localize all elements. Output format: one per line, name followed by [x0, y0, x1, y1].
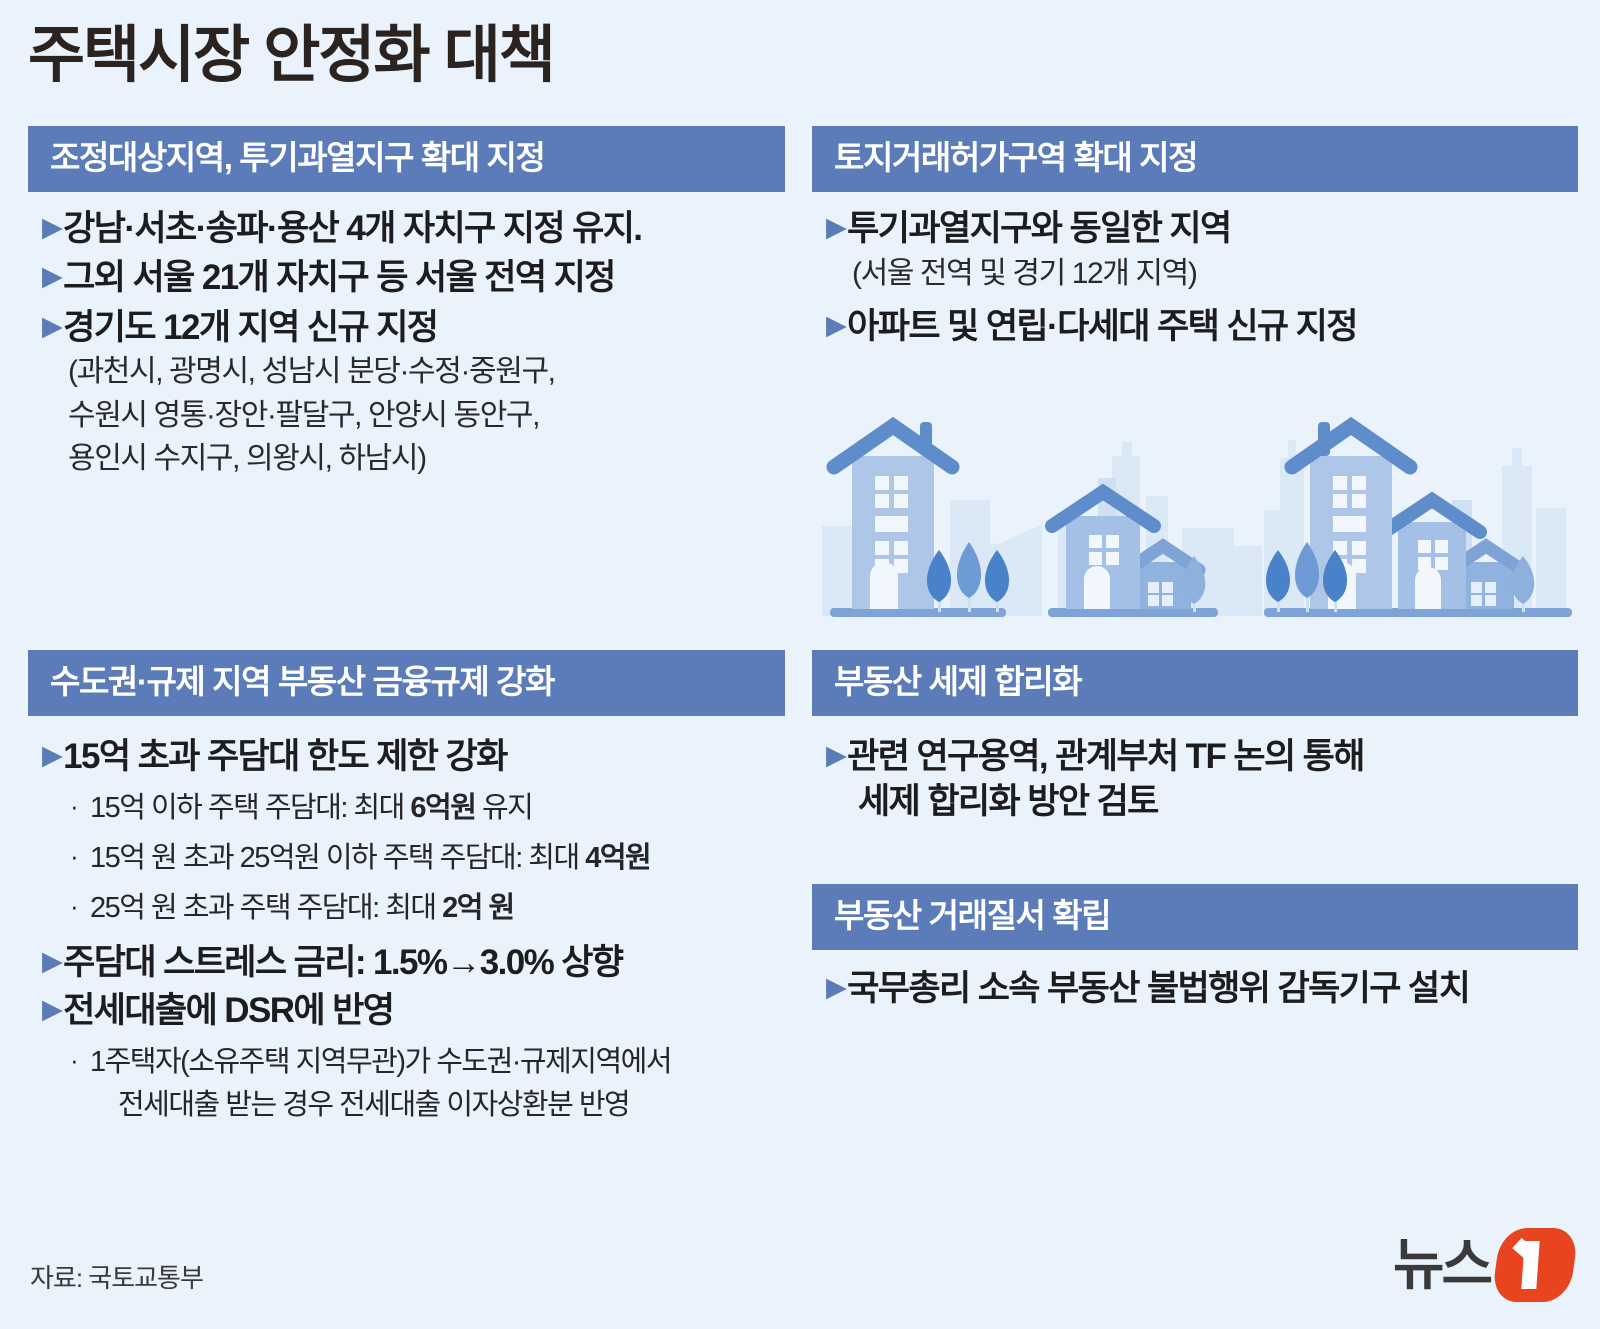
note-line: (서울 전역 및 경기 12개 지역) [826, 253, 1578, 296]
section-land-permit: 토지거래허가구역 확대 지정 ▶ 투기과열지구와 동일한 지역 (서울 전역 및… [812, 126, 1578, 354]
bullet-item: ▶ 경기도 12개 지역 신규 지정 [42, 305, 785, 351]
bullet-continuation: 세제 합리화 방안 검토 [826, 779, 1578, 825]
section-header-tax: 부동산 세제 합리화 [812, 650, 1578, 716]
bullet-text: 관련 연구용역, 관계부처 TF 논의 통해 [847, 734, 1578, 780]
sub-bullet-text: 15억 원 초과 25억원 이하 주택 주담대: 최대 4억원 [90, 839, 650, 878]
bullet-text: 투기과열지구와 동일한 지역 [847, 206, 1578, 252]
sub-bullet-item: · 1주택자(소유주택 지역무관)가 수도권·규제지역에서 [42, 1043, 785, 1082]
bullet-text: 세제 합리화 방안 검토 [858, 779, 1578, 825]
section-header-adjust-zone: 조정대상지역, 투기과열지구 확대 지정 [28, 126, 785, 192]
sub-bullet-text: 1주택자(소유주택 지역무관)가 수도권·규제지역에서 [90, 1043, 671, 1082]
housing-skyline-illustration [812, 404, 1578, 624]
bullet-item: ▶ 국무총리 소속 부동산 불법행위 감독기구 설치 [826, 966, 1578, 1012]
sub-bullet-text: 25억 원 초과 주택 주담대: 최대 2억 원 [90, 889, 514, 928]
section-tax: 부동산 세제 합리화 ▶ 관련 연구용역, 관계부처 TF 논의 통해 세제 합… [812, 650, 1578, 825]
dot-bullet-icon: · [70, 839, 90, 875]
infographic-root: 주택시장 안정화 대책 조정대상지역, 투기과열지구 확대 지정 ▶ 강남·서초… [0, 0, 1600, 1329]
triangle-bullet-icon: ▶ [42, 255, 61, 299]
bullet-list-adjust-zone: ▶ 강남·서초·송파·용산 4개 자치구 지정 유지. ▶ 그외 서울 21개 … [28, 192, 785, 481]
dot-bullet-icon: · [70, 889, 90, 925]
bullet-list-finance: ▶ 15억 초과 주담대 한도 제한 강화 · 15억 이하 주택 주담대: 최… [28, 716, 785, 1125]
section-order: 부동산 거래질서 확립 ▶ 국무총리 소속 부동산 불법행위 감독기구 설치 [812, 884, 1578, 1011]
source-label: 자료: 국토교통부 [30, 1258, 203, 1295]
bullet-text: 15억 초과 주담대 한도 제한 강화 [63, 734, 785, 780]
sub-bullet-item: · 25억 원 초과 주택 주담대: 최대 2억 원 [42, 889, 785, 928]
bullet-list-tax: ▶ 관련 연구용역, 관계부처 TF 논의 통해 세제 합리화 방안 검토 [812, 716, 1578, 825]
sub-bullet-item: · 15억 원 초과 25억원 이하 주택 주담대: 최대 4억원 [42, 839, 785, 878]
triangle-bullet-icon: ▶ [826, 206, 845, 250]
logo-numeral-icon [1491, 1228, 1579, 1302]
sub-bullet-text: 15억 이하 주택 주담대: 최대 6억원 유지 [90, 789, 532, 828]
bullet-list-land-permit: ▶ 투기과열지구와 동일한 지역 (서울 전역 및 경기 12개 지역) ▶ 아… [812, 192, 1578, 350]
triangle-bullet-icon: ▶ [826, 734, 845, 778]
bullet-item: ▶ 주담대 스트레스 금리: 1.5%→3.0% 상향 [42, 940, 785, 986]
bullet-item: ▶ 아파트 및 연립·다세대 주택 신규 지정 [826, 304, 1578, 350]
bullet-text: 아파트 및 연립·다세대 주택 신규 지정 [847, 304, 1578, 350]
note-line: 용인시 수지구, 의왕시, 하남시) [42, 437, 785, 481]
page-title: 주택시장 안정화 대책 [28, 20, 554, 91]
news1-logo: 뉴스 [1393, 1226, 1574, 1304]
bullet-item: ▶ 투기과열지구와 동일한 지역 [826, 206, 1578, 252]
section-header-land-permit: 토지거래허가구역 확대 지정 [812, 126, 1578, 192]
triangle-bullet-icon: ▶ [42, 940, 61, 984]
bullet-text: 강남·서초·송파·용산 4개 자치구 지정 유지. [63, 206, 785, 252]
dot-bullet-icon: · [70, 1043, 90, 1079]
bullet-text: 국무총리 소속 부동산 불법행위 감독기구 설치 [847, 966, 1578, 1012]
triangle-bullet-icon: ▶ [42, 988, 61, 1032]
bullet-item: ▶ 강남·서초·송파·용산 4개 자치구 지정 유지. [42, 206, 785, 252]
bullet-item: ▶ 15억 초과 주담대 한도 제한 강화 [42, 734, 785, 780]
triangle-bullet-icon: ▶ [42, 734, 61, 778]
triangle-bullet-icon: ▶ [826, 966, 845, 1010]
sub-bullet-item: · 15억 이하 주택 주담대: 최대 6억원 유지 [42, 789, 785, 828]
bullet-list-order: ▶ 국무총리 소속 부동산 불법행위 감독기구 설치 [812, 950, 1578, 1012]
sub-bullet-continuation: 전세대출 받는 경우 전세대출 이자상환분 반영 [42, 1086, 785, 1125]
bullet-item: ▶ 관련 연구용역, 관계부처 TF 논의 통해 [826, 734, 1578, 780]
bullet-item: ▶ 전세대출에 DSR에 반영 [42, 988, 785, 1034]
bullet-text: 전세대출에 DSR에 반영 [63, 988, 785, 1034]
section-header-order: 부동산 거래질서 확립 [812, 884, 1578, 950]
triangle-bullet-icon: ▶ [42, 305, 61, 349]
section-finance: 수도권·규제 지역 부동산 금융규제 강화 ▶ 15억 초과 주담대 한도 제한… [28, 650, 785, 1125]
section-adjust-zone: 조정대상지역, 투기과열지구 확대 지정 ▶ 강남·서초·송파·용산 4개 자치… [28, 126, 785, 481]
bullet-text: 그외 서울 21개 자치구 등 서울 전역 지정 [63, 255, 785, 301]
logo-wordmark: 뉴스 [1393, 1237, 1490, 1293]
bullet-text: 경기도 12개 지역 신규 지정 [63, 305, 785, 351]
bullet-text: 주담대 스트레스 금리: 1.5%→3.0% 상향 [63, 940, 785, 986]
section-header-finance: 수도권·규제 지역 부동산 금융규제 강화 [28, 650, 785, 716]
note-line: (과천시, 광명시, 성남시 분당·수정·중원구, [42, 350, 785, 394]
dot-bullet-icon: · [70, 789, 90, 825]
triangle-bullet-icon: ▶ [42, 206, 61, 250]
triangle-bullet-icon: ▶ [826, 304, 845, 348]
bullet-item: ▶ 그외 서울 21개 자치구 등 서울 전역 지정 [42, 255, 785, 301]
note-line: 수원시 영통·장안·팔달구, 안양시 동안구, [42, 394, 785, 438]
